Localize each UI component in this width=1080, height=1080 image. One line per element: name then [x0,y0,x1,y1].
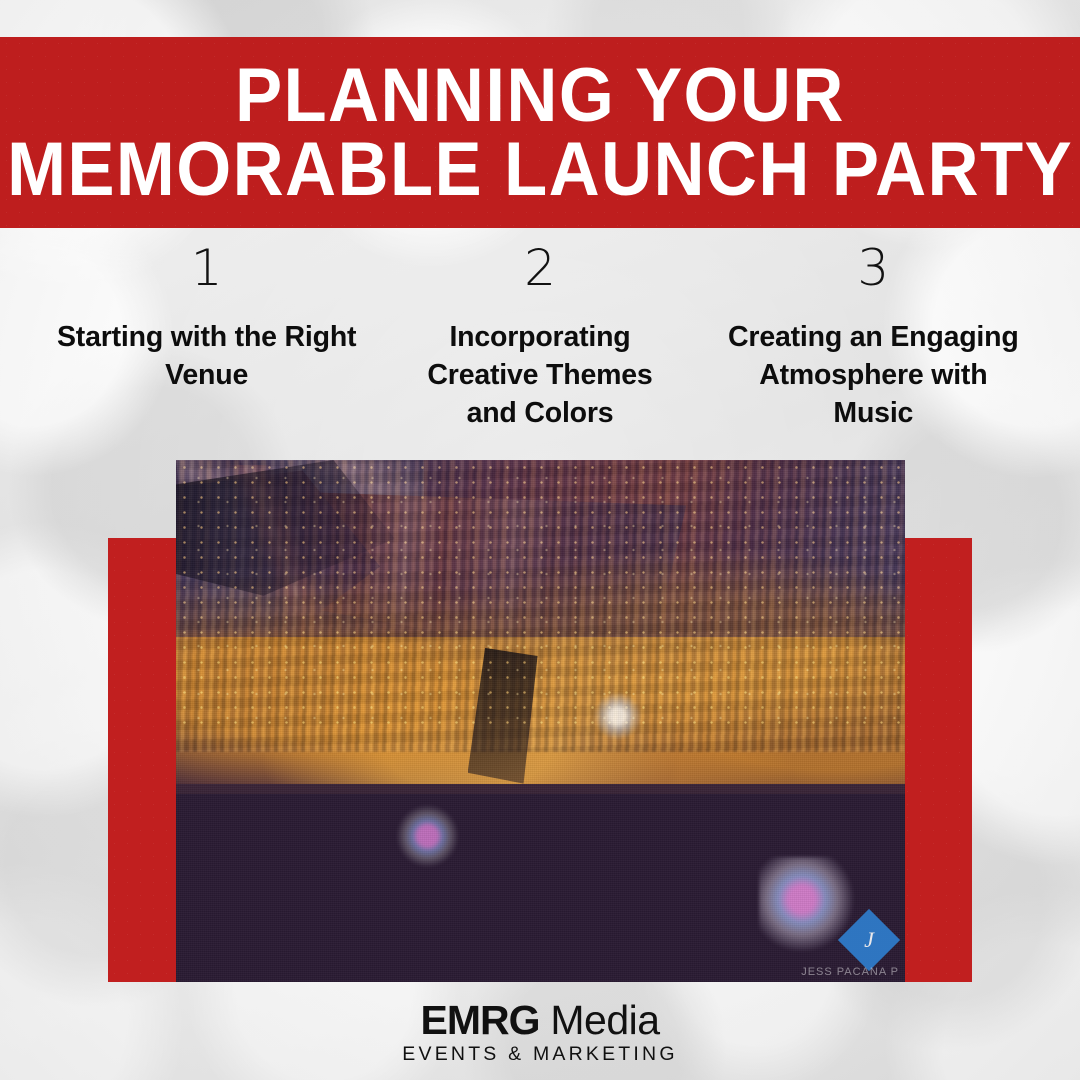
photo-grain [176,460,905,982]
photo-watermark-text: JESS PACANA P [801,966,899,978]
step-number-1: 1 [50,243,363,293]
footer-logo: EMRG Media EVENTS & MARKETING [0,1000,1080,1066]
photo-watermark-badge-letter: J [847,918,891,962]
logo-wordmark: EMRG Media [0,1000,1080,1042]
step-number-2: 2 [383,243,696,293]
step-number-3: 3 [717,243,1030,293]
page-title-line-1: PLANNING YOUR [235,60,845,131]
step-item-2: 2 Incorporating Creative Themes and Colo… [373,243,706,433]
page-title-line-2: MEMORABLE LAUNCH PARTY [7,134,1073,205]
step-item-1: 1 Starting with the Right Venue [40,243,373,395]
step-item-3: 3 Creating an Engaging Atmosphere with M… [707,243,1040,433]
photo-watermark-badge: J [838,909,900,971]
logo-primary-text: EMRG [420,997,539,1043]
logo-secondary-text: Media [539,997,659,1043]
event-photo: J JESS PACANA P [176,460,905,982]
logo-tagline: EVENTS & MARKETING [0,1043,1080,1066]
infographic-canvas: PLANNING YOUR MEMORABLE LAUNCH PARTY 1 S… [0,0,1080,1080]
title-banner: PLANNING YOUR MEMORABLE LAUNCH PARTY [0,37,1080,228]
step-title-3: Creating an Engaging Atmosphere with Mus… [717,319,1030,433]
steps-row: 1 Starting with the Right Venue 2 Incorp… [40,243,1040,433]
step-title-2: Incorporating Creative Themes and Colors [383,319,696,433]
step-title-1: Starting with the Right Venue [50,319,363,395]
